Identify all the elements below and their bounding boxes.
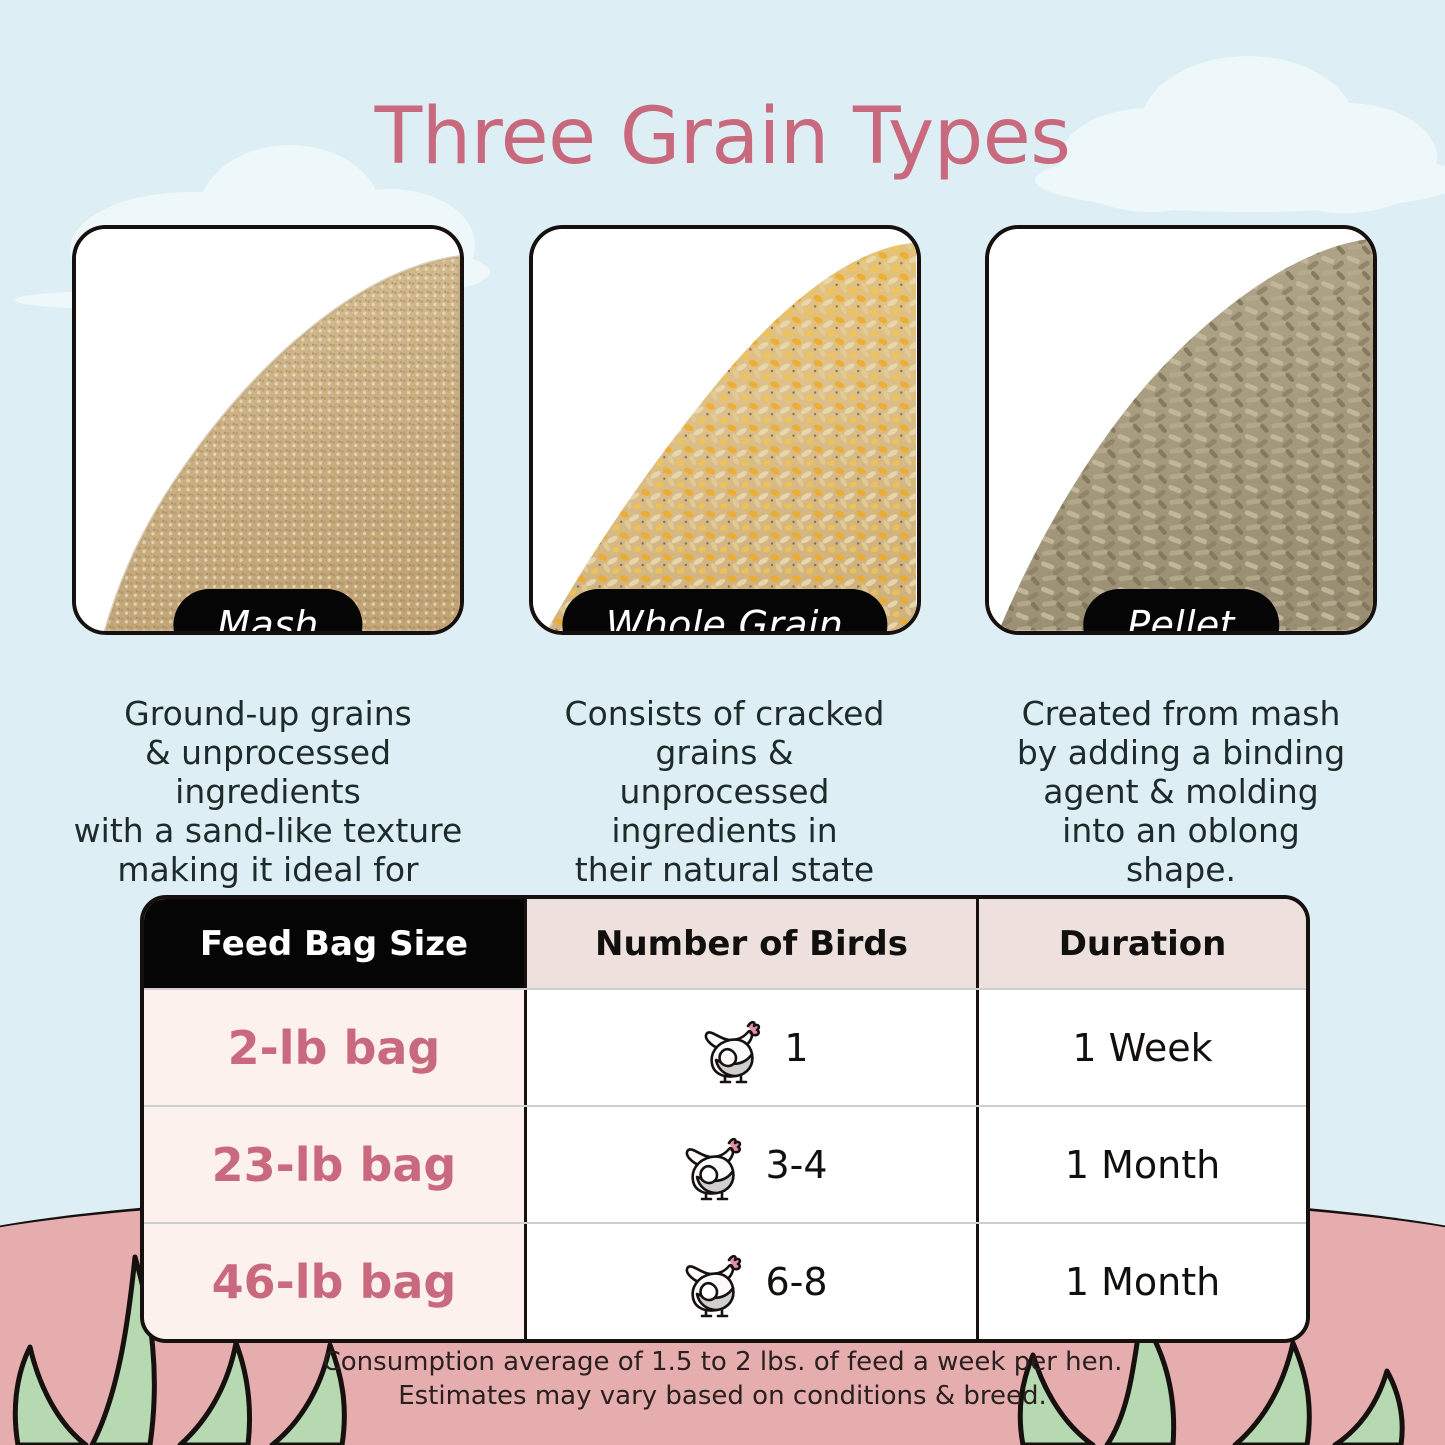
page-title: Three Grain Types — [0, 92, 1445, 182]
infographic-canvas: Three Grain Types — [0, 0, 1445, 1445]
ground-mash-photo — [76, 229, 460, 631]
pellet-photo: Pellet — [985, 225, 1377, 635]
grain-card-label: Whole Grain — [562, 589, 887, 635]
grain-card-description: Created from mash by adding a binding ag… — [985, 695, 1377, 890]
table-row: 2-lb bag 1 1 Week — [144, 988, 1306, 1105]
mash-photo: Mash — [72, 225, 464, 635]
feed-bag-table: Feed Bag Size Number of Birds Duration 2… — [140, 895, 1310, 1343]
cell-duration: 1 Week — [976, 990, 1306, 1105]
whole-grain-photo — [533, 229, 917, 631]
table-header-row: Feed Bag Size Number of Birds Duration — [144, 899, 1306, 988]
birds-count-label: 1 — [784, 1026, 808, 1070]
header-duration: Duration — [976, 899, 1306, 988]
header-feed-bag-size: Feed Bag Size — [144, 899, 524, 988]
cell-bag-size: 23-lb bag — [144, 1107, 524, 1222]
hen-icon — [694, 1010, 770, 1086]
whole-grain-photo: Whole Grain — [529, 225, 921, 635]
table-row: 23-lb bag 3-4 1 Month — [144, 1105, 1306, 1222]
hen-icon — [675, 1244, 751, 1320]
table-row: 46-lb bag 6-8 1 Month — [144, 1222, 1306, 1339]
grain-card-label: Mash — [173, 589, 362, 635]
cell-number-of-birds: 1 — [524, 990, 976, 1105]
birds-count-label: 6-8 — [765, 1260, 827, 1304]
cell-duration: 1 Month — [976, 1224, 1306, 1339]
cell-duration: 1 Month — [976, 1107, 1306, 1222]
cell-number-of-birds: 3-4 — [524, 1107, 976, 1222]
footnote-text: Consumption average of 1.5 to 2 lbs. of … — [0, 1345, 1445, 1414]
pellet-photo — [989, 229, 1373, 631]
birds-count-label: 3-4 — [765, 1143, 827, 1187]
header-number-of-birds: Number of Birds — [524, 899, 976, 988]
grain-card-description: Ground-up grains & unprocessed ingredien… — [72, 695, 464, 929]
cell-bag-size: 2-lb bag — [144, 990, 524, 1105]
grain-card-label: Pellet — [1083, 589, 1279, 635]
cell-bag-size: 46-lb bag — [144, 1224, 524, 1339]
hen-icon — [675, 1127, 751, 1203]
cell-number-of-birds: 6-8 — [524, 1224, 976, 1339]
